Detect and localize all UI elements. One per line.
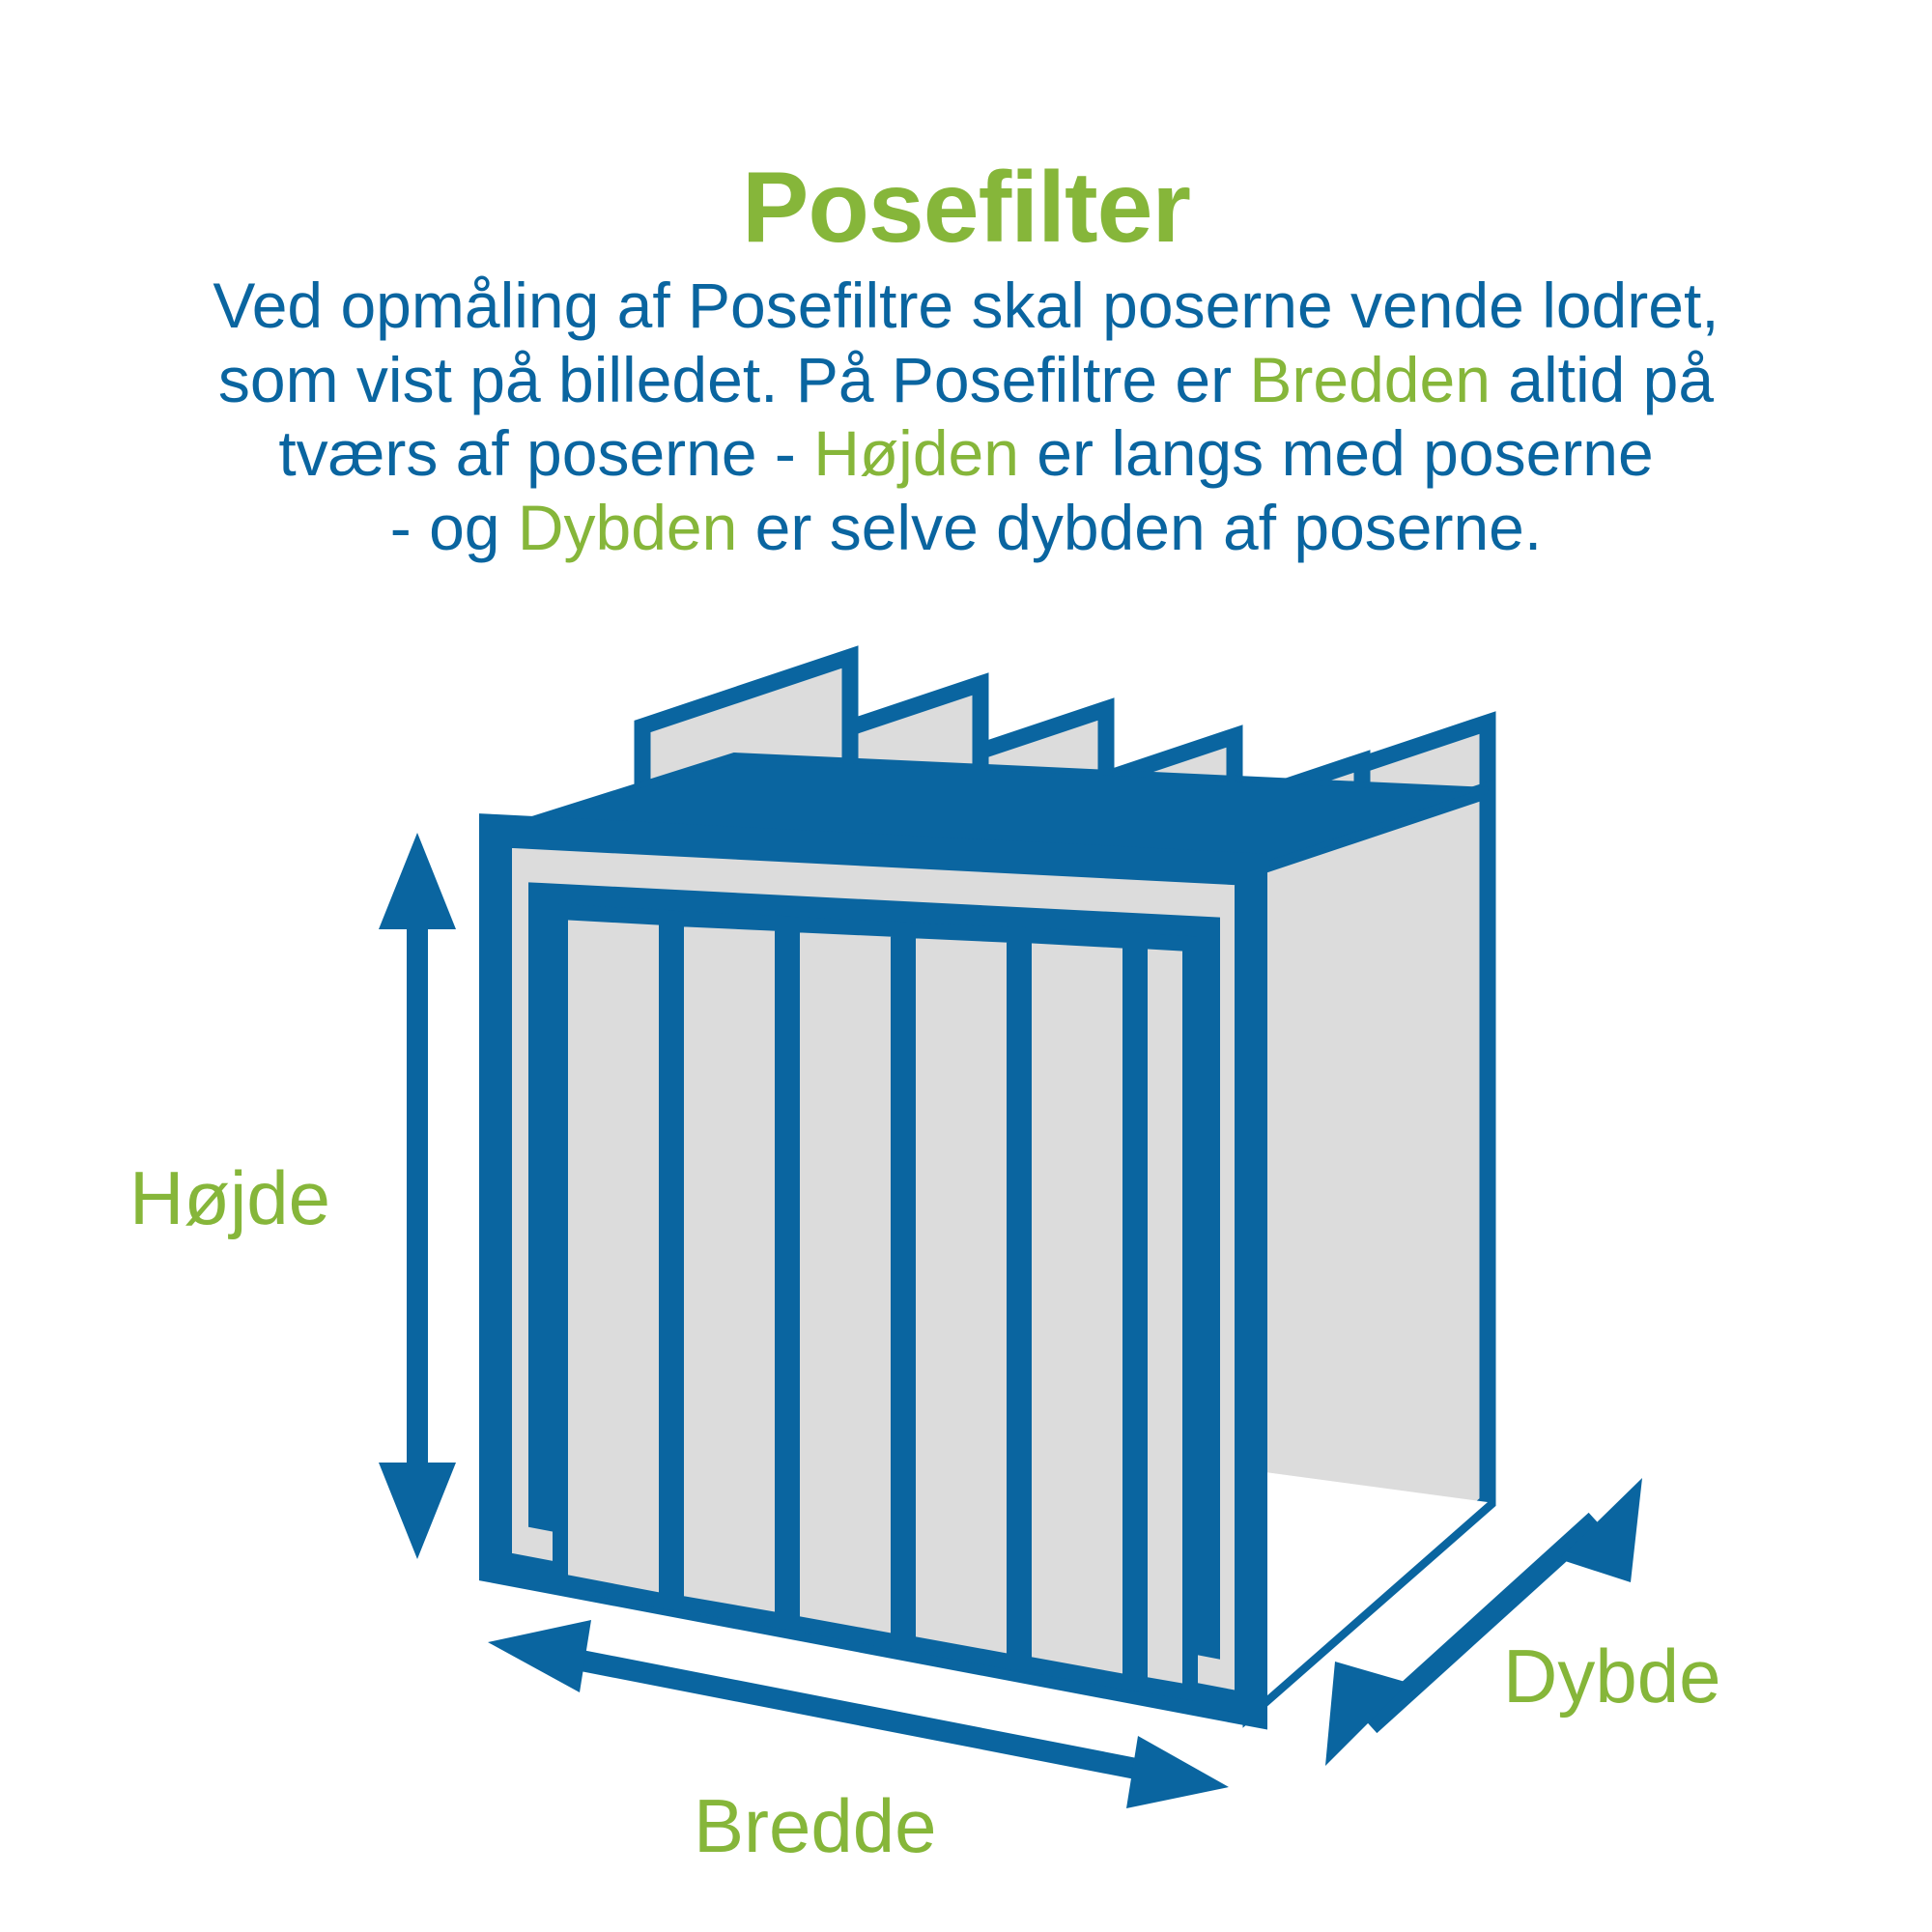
height-dimension-arrow <box>379 833 456 1559</box>
pocket-opening-3 <box>792 924 898 1642</box>
filter-front-pocket-openings <box>560 912 1190 1692</box>
height-dimension-label: Højde <box>129 1154 330 1242</box>
pocket-opening-4 <box>908 930 1014 1662</box>
pocket-opening-2 <box>676 919 782 1621</box>
width-dimension-label: Bredde <box>694 1782 937 1870</box>
page-root: Posefilter Ved opmåling af Posefiltre sk… <box>0 0 1932 1932</box>
pocket-opening-5 <box>1024 935 1130 1683</box>
depth-dimension-label: Dybde <box>1503 1633 1720 1720</box>
pocket-opening-6 <box>1140 941 1190 1692</box>
pocket-opening-1 <box>560 912 667 1602</box>
